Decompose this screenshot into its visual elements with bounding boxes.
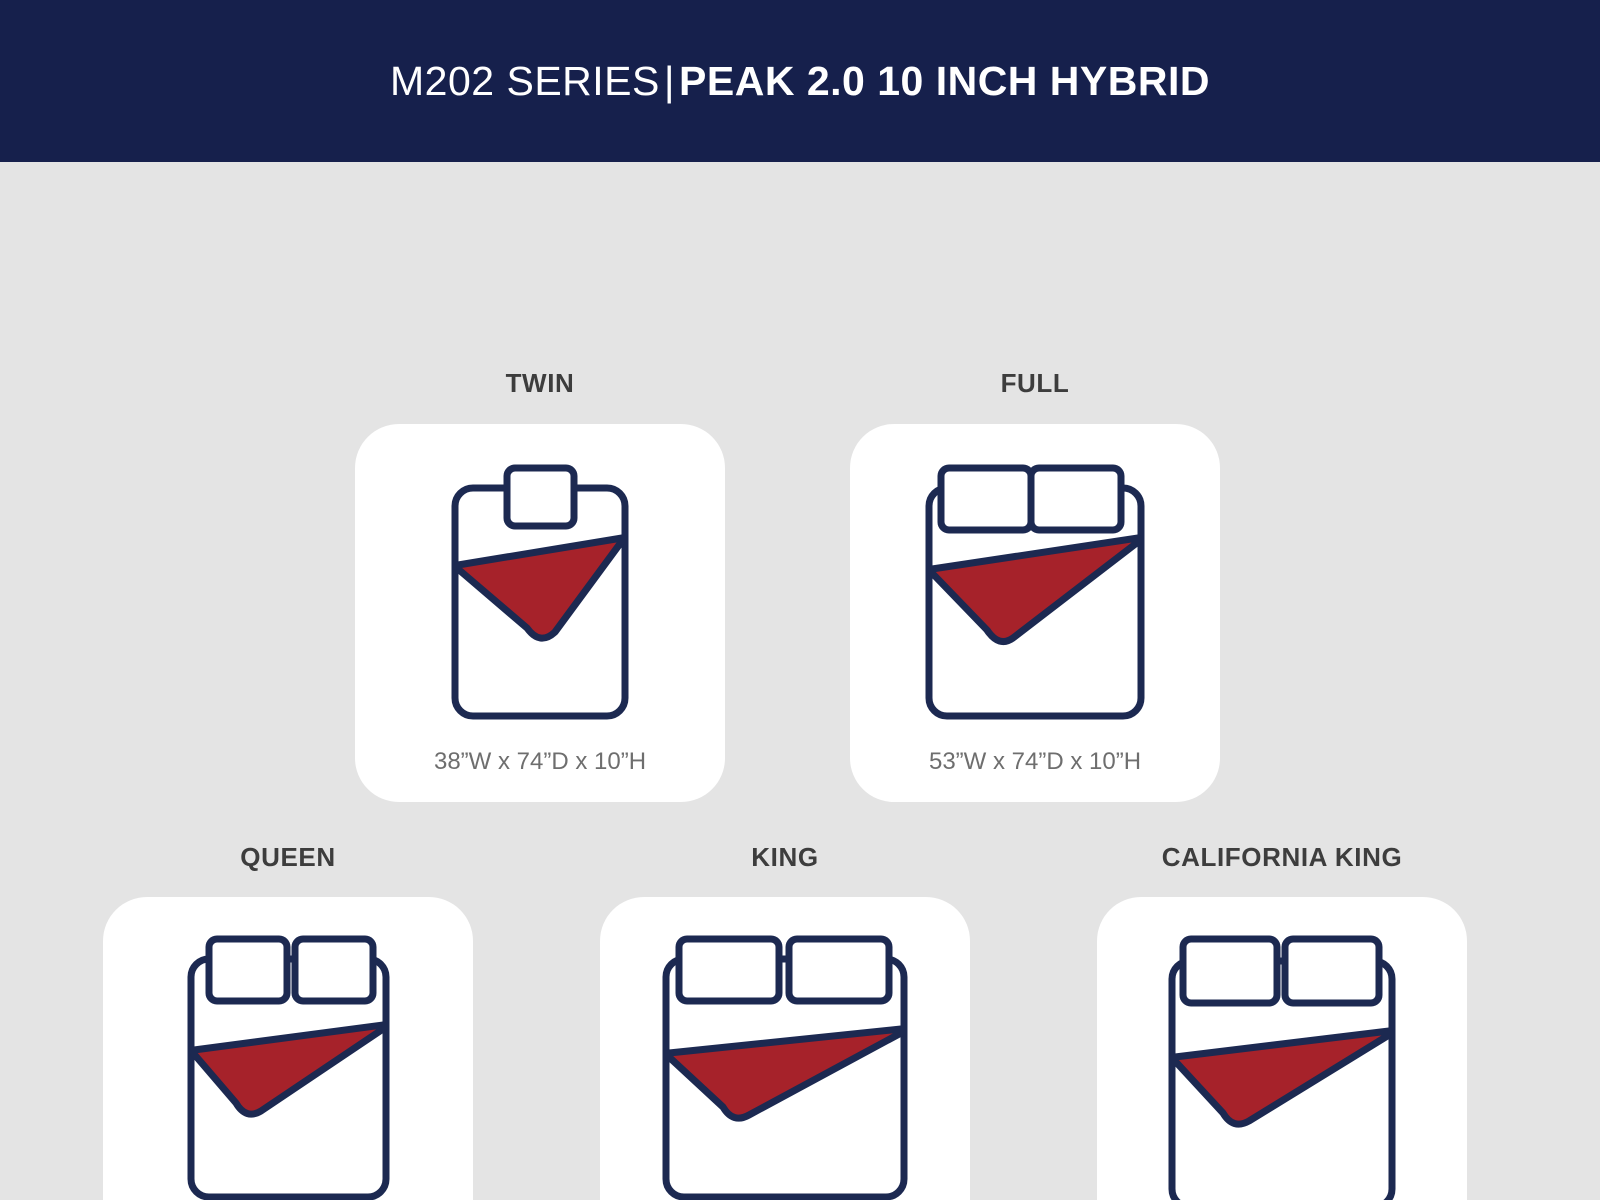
- bed-illustration-california-king: [1157, 925, 1407, 1200]
- size-card-king[interactable]: 76”W x 79”D x 10”H: [600, 897, 970, 1200]
- size-block-queen[interactable]: QUEEN 60”W x 79”D x 10”H: [103, 844, 473, 1200]
- size-label-california-king: CALIFORNIA KING: [1097, 844, 1467, 870]
- bed-illustration-twin: [445, 456, 635, 726]
- pillow-shape-king-1: [679, 939, 779, 1001]
- title-separator: |: [660, 58, 679, 104]
- size-label-twin: TWIN: [355, 370, 725, 396]
- size-card-california-king[interactable]: 72”W x 83”D x 10”H: [1097, 897, 1467, 1200]
- size-card-twin[interactable]: 38”W x 74”D x 10”H: [355, 424, 725, 802]
- bed-illustration-queen: [181, 925, 396, 1200]
- pillow-shape-california-king-1: [1183, 939, 1277, 1003]
- size-block-twin[interactable]: TWIN 38”W x 74”D x 10”H: [355, 370, 725, 802]
- pillow-shape-queen-2: [295, 939, 373, 1001]
- page-header: M202 SERIES|PEAK 2.0 10 INCH HYBRID: [0, 0, 1600, 162]
- pillow-shape-california-king-2: [1285, 939, 1379, 1003]
- size-label-king: KING: [600, 844, 970, 870]
- size-dimensions-full: 53”W x 74”D x 10”H: [929, 750, 1141, 774]
- series-label: M202 SERIES: [390, 58, 660, 104]
- pillow-shape-king-2: [789, 939, 889, 1001]
- size-card-full[interactable]: 53”W x 74”D x 10”H: [850, 424, 1220, 802]
- size-label-queen: QUEEN: [103, 844, 473, 870]
- size-dimensions-twin: 38”W x 74”D x 10”H: [434, 750, 646, 774]
- pillow-shape-queen-1: [209, 939, 287, 1001]
- pillow-shape-twin-1: [507, 468, 574, 526]
- size-block-full[interactable]: FULL 53”W x 74”D x 10”H: [850, 370, 1220, 802]
- model-label: PEAK 2.0 10 INCH HYBRID: [679, 58, 1210, 104]
- pillow-shape-full-1: [941, 468, 1031, 530]
- size-label-full: FULL: [850, 370, 1220, 396]
- size-chart-grid: TWIN 38”W x 74”D x 10”H FULL 53”W x 74”D: [0, 162, 1600, 1200]
- pillow-shape-full-2: [1031, 468, 1121, 530]
- size-block-california-king[interactable]: CALIFORNIA KING 72”W x 83”D x 10”H: [1097, 844, 1467, 1200]
- page-title: M202 SERIES|PEAK 2.0 10 INCH HYBRID: [390, 61, 1210, 102]
- size-card-queen[interactable]: 60”W x 79”D x 10”H: [103, 897, 473, 1200]
- bed-illustration-full: [919, 456, 1151, 726]
- bed-illustration-king: [651, 925, 919, 1200]
- size-block-king[interactable]: KING 76”W x 79”D x 10”H: [600, 844, 970, 1200]
